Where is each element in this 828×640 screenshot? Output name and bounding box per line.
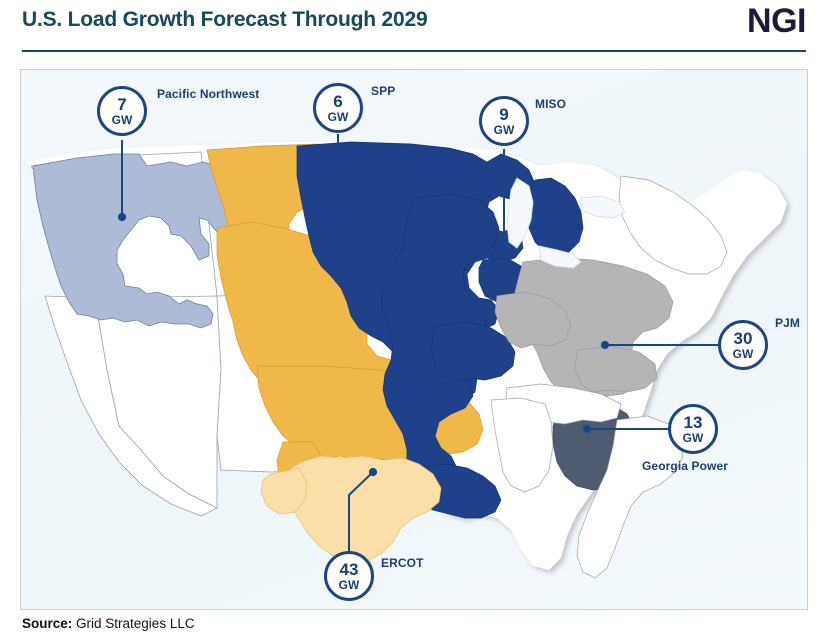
map-panel: 7 GW Pacific Northwest 6 GW SPP 9 GW MIS… <box>20 69 808 610</box>
header: U.S. Load Growth Forecast Through 2029 N… <box>0 0 828 56</box>
callout-unit: GW <box>339 579 360 591</box>
callout-bubble-georgia-power[interactable]: 13 GW <box>668 404 718 454</box>
callout-value: 9 <box>499 106 508 123</box>
callout-value: 13 <box>684 414 703 431</box>
header-divider <box>22 50 806 52</box>
callout-unit: GW <box>112 114 133 126</box>
source-value: Grid Strategies LLC <box>76 616 195 631</box>
infographic-root: U.S. Load Growth Forecast Through 2029 N… <box>0 0 828 640</box>
callout-value: 43 <box>340 561 359 578</box>
callout-unit: GW <box>494 124 515 136</box>
callout-value: 30 <box>734 330 753 347</box>
callout-bubble-pacific-northwest[interactable]: 7 GW <box>97 86 147 136</box>
page-title: U.S. Load Growth Forecast Through 2029 <box>22 8 427 32</box>
source-note: Source: Grid Strategies LLC <box>22 616 195 631</box>
us-region-map <box>21 70 808 610</box>
ngi-logo: NGI <box>747 4 806 38</box>
callout-label-miso: MISO <box>535 97 566 111</box>
callout-bubble-miso[interactable]: 9 GW <box>479 96 529 146</box>
callout-value: 6 <box>333 93 342 110</box>
callout-unit: GW <box>733 348 754 360</box>
callout-label-pacific-northwest: Pacific Northwest <box>157 87 259 101</box>
callout-label-ercot: ERCOT <box>381 556 424 570</box>
callout-label-spp: SPP <box>371 84 395 98</box>
callout-label-pjm: PJM <box>775 316 800 330</box>
source-label: Source: <box>22 616 72 631</box>
region-ercot <box>261 456 441 562</box>
callout-bubble-ercot[interactable]: 43 GW <box>324 551 374 601</box>
callout-value: 7 <box>117 96 126 113</box>
callout-bubble-pjm[interactable]: 30 GW <box>718 320 768 370</box>
callout-label-georgia-power: Georgia Power <box>642 459 728 473</box>
callout-unit: GW <box>683 432 704 444</box>
callout-bubble-spp[interactable]: 6 GW <box>313 83 363 133</box>
callout-unit: GW <box>328 111 349 123</box>
